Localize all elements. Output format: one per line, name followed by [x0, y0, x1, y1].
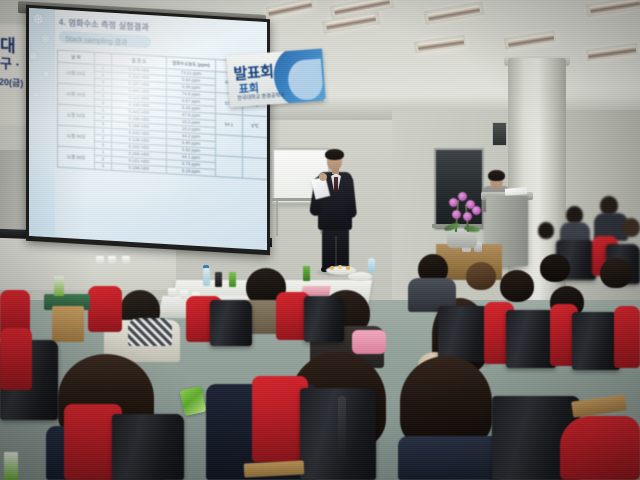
auditorium-seat[interactable] [210, 300, 252, 346]
beverage-can [54, 276, 64, 296]
beverage-can [215, 272, 222, 287]
orchid-flower [458, 192, 467, 201]
cell-temperature [243, 157, 268, 179]
podium-person-hair [488, 170, 505, 181]
seat-highlight [338, 396, 346, 462]
paper-cup [108, 256, 116, 264]
audience-body [398, 436, 502, 480]
presenter-necktie [334, 177, 338, 193]
audience-scarf [352, 330, 386, 354]
auditorium-seat-cushion[interactable] [560, 416, 640, 480]
cell-date: 11월 06일 [58, 125, 95, 148]
food-item [338, 265, 342, 269]
cell-date: 10월 30일 [58, 83, 95, 106]
cell-percent [216, 135, 243, 158]
auditorium-presentation-photo: 대 구 · 20(금) ❅ ❄ ❆ ❅ ❄ 4. 염화수소 측정 실험결과 St… [0, 0, 640, 480]
audience-head [600, 258, 632, 288]
food-plate [348, 272, 372, 281]
auditorium-seat-cushion[interactable] [0, 328, 32, 390]
paper-cup [168, 288, 176, 297]
snowflake-icon: ❅ [43, 71, 50, 79]
whiteboard-leg [276, 200, 278, 236]
banner-left-line3: 20(금) [0, 75, 23, 90]
cell-temperature [243, 136, 268, 158]
snowflake-icon: ❅ [32, 12, 45, 28]
col-header-no [95, 52, 112, 65]
audience-head [538, 222, 554, 239]
paper-cup [122, 256, 130, 264]
bottle-cap [203, 265, 209, 268]
beverage-can [229, 272, 236, 287]
projection-screen-frame: ❅ ❄ ❆ ❅ ❄ 4. 염화수소 측정 실험결과 Stack sampling… [26, 5, 270, 255]
audience-hair [400, 356, 492, 448]
presenter-hand [319, 173, 327, 181]
cell-percent: 54.1 [216, 114, 243, 137]
projection-screen: ❅ ❄ ❆ ❅ ❄ 4. 염화수소 측정 실험결과 Stack sampling… [29, 8, 267, 250]
cell-date: 11월 09일 [58, 146, 95, 169]
snowflake-icon: ❄ [41, 35, 50, 47]
orchid-flower [463, 212, 472, 221]
beverage-can [4, 452, 18, 480]
auditorium-seat[interactable] [438, 306, 490, 362]
auditorium-seat[interactable] [112, 414, 184, 480]
auditorium-seat-cushion[interactable] [88, 286, 122, 332]
presenter-leg-separation [335, 236, 337, 270]
snowflake-icon: ❆ [30, 52, 38, 61]
paper-cup [180, 290, 188, 299]
water-bottle [203, 268, 210, 286]
food-item [330, 266, 334, 270]
wall-speaker-icon [492, 122, 507, 146]
audience-head [622, 218, 640, 237]
auditorium-seat-cushion[interactable] [614, 306, 640, 368]
cell-percent [216, 156, 243, 179]
seat-armrest [52, 306, 84, 342]
snowflake-icon: ❄ [33, 92, 39, 99]
auditorium-seat[interactable] [506, 310, 556, 368]
cell-sample-no: 3 [95, 162, 112, 170]
cell-date: 10월 29일 [58, 62, 95, 85]
orchid-flower [472, 206, 481, 215]
paper-cup [96, 256, 104, 264]
presenter-hair [325, 149, 344, 160]
cell-temperature: 5℃ [243, 115, 268, 137]
orchid-flower [452, 210, 461, 219]
banner-left-line2: 구 · [0, 53, 20, 73]
audience-head [466, 262, 496, 290]
audience-head [500, 270, 534, 302]
audience-head [540, 254, 570, 282]
banner-right: 발표회 표회 한국대학교 환경공학과 [226, 49, 326, 108]
auditorium-seat[interactable] [304, 296, 344, 342]
auditorium-seat[interactable] [572, 312, 620, 370]
audience-shirt-pattern [128, 318, 172, 346]
cell-concentration: 5.19 ppm [167, 167, 216, 177]
beverage-can [303, 266, 310, 281]
water-bottle [368, 258, 375, 273]
cell-date: 11월 02일 [58, 104, 95, 127]
food-item [346, 266, 350, 270]
orchid-flower [449, 198, 458, 207]
